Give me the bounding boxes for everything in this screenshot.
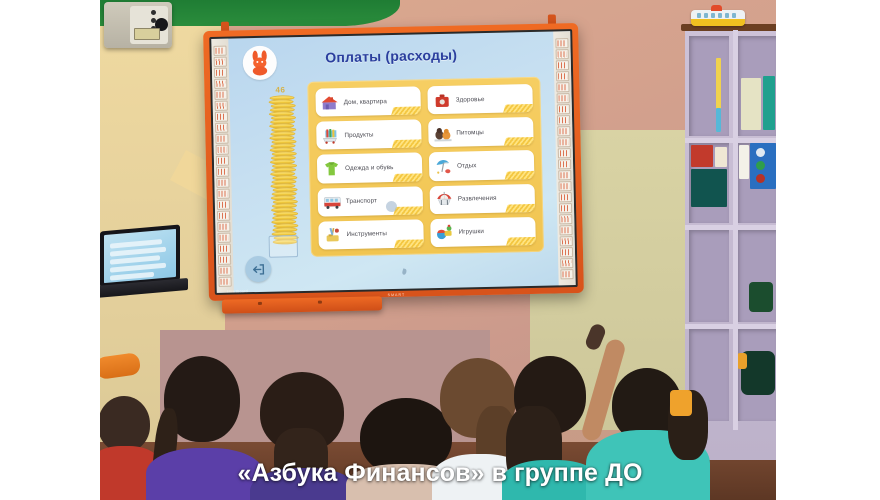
toolbar-button[interactable] bbox=[556, 82, 569, 92]
uv-lamp-indicator bbox=[151, 10, 156, 15]
toolbar-button[interactable] bbox=[558, 159, 571, 169]
toolbar-button[interactable] bbox=[556, 71, 569, 81]
bus-icon bbox=[323, 193, 342, 210]
expense-category-panel: Дом, квартира bbox=[307, 77, 544, 257]
screenshot-stage: Оплаты (расходы) 46 bbox=[0, 0, 880, 500]
uv-lamp-device bbox=[104, 2, 172, 48]
shelf-cube bbox=[737, 329, 776, 421]
menu-item-groceries[interactable]: Продукты bbox=[316, 120, 422, 150]
board-logo: smartboard bbox=[227, 289, 248, 293]
menu-item-label: Развлечения bbox=[458, 195, 497, 203]
price-tag bbox=[390, 106, 421, 116]
toolbar-button[interactable] bbox=[556, 49, 569, 59]
toys-icon bbox=[435, 224, 454, 241]
toolbar-button[interactable] bbox=[218, 243, 231, 253]
toolbar-button[interactable] bbox=[560, 236, 573, 246]
toolbar-button[interactable] bbox=[216, 166, 229, 176]
shelf-cube bbox=[737, 143, 776, 223]
lesson-application[interactable]: Оплаты (расходы) 46 bbox=[228, 31, 558, 292]
menu-item-clothing[interactable]: Одежда и обувь bbox=[317, 153, 423, 183]
menu-item-pets[interactable]: Питомцы bbox=[428, 117, 534, 147]
whiteboard-bezel: Оплаты (расходы) 46 bbox=[209, 29, 578, 295]
menu-item-label: Одежда и обувь bbox=[345, 164, 394, 172]
toolbar-button[interactable] bbox=[217, 232, 230, 242]
price-tag bbox=[505, 237, 536, 247]
toolbar-button[interactable] bbox=[557, 115, 570, 125]
laptop-computer bbox=[100, 228, 186, 300]
laptop-lid bbox=[100, 225, 180, 288]
shelf-game-box bbox=[715, 147, 727, 167]
shelf-game-box bbox=[691, 145, 713, 167]
toolbar-button[interactable] bbox=[557, 93, 570, 103]
whiteboard-frame: Оплаты (расходы) 46 bbox=[203, 23, 584, 301]
toolbar-button[interactable] bbox=[214, 78, 227, 88]
hair-clip bbox=[670, 390, 692, 416]
shelf-cube bbox=[689, 36, 729, 136]
toolbar-button[interactable] bbox=[558, 148, 571, 158]
menu-item-leisure[interactable]: Отдых bbox=[429, 150, 535, 180]
shelf-item bbox=[737, 353, 747, 369]
house-icon bbox=[321, 94, 340, 111]
price-tag bbox=[504, 170, 535, 180]
toolbar-button[interactable] bbox=[216, 177, 229, 187]
toolbar-button[interactable] bbox=[216, 144, 229, 154]
toolbar-button[interactable] bbox=[214, 89, 227, 99]
menu-item-entertainment[interactable]: Развлечения bbox=[430, 184, 536, 214]
toolbar-button[interactable] bbox=[557, 126, 570, 136]
toolbar-button[interactable] bbox=[559, 192, 572, 202]
shelf-item bbox=[739, 145, 749, 179]
menu-item-label: Продукты bbox=[344, 131, 373, 139]
toolbar-button[interactable] bbox=[560, 269, 573, 279]
menu-item-label: Транспорт bbox=[346, 198, 377, 206]
price-tag bbox=[392, 173, 423, 183]
back-arrow-icon[interactable] bbox=[245, 256, 272, 283]
shelf-cube bbox=[689, 143, 729, 223]
toy-bus bbox=[691, 10, 745, 26]
menu-item-label: Игрушки bbox=[458, 228, 484, 236]
price-tag bbox=[393, 239, 424, 249]
toolbar-button[interactable] bbox=[556, 60, 569, 70]
menu-item-tools[interactable]: Инструменты bbox=[318, 219, 424, 249]
menu-item-house[interactable]: Дом, квартира bbox=[315, 86, 421, 116]
toolbar-button[interactable] bbox=[555, 38, 568, 48]
menu-item-label: Дом, квартира bbox=[344, 98, 387, 106]
toolbar-button[interactable] bbox=[217, 188, 230, 198]
board-cursor bbox=[402, 268, 408, 275]
toolbar-button[interactable] bbox=[217, 199, 230, 209]
shelf-book bbox=[741, 78, 761, 130]
shelf-book bbox=[716, 108, 721, 132]
menu-item-label: Здоровье bbox=[456, 96, 485, 104]
interactive-whiteboard[interactable]: Оплаты (расходы) 46 bbox=[203, 23, 584, 301]
toolbar-button[interactable] bbox=[214, 67, 227, 77]
toy-bus-light bbox=[711, 5, 722, 11]
toolbar-button[interactable] bbox=[216, 155, 229, 165]
pets-icon bbox=[433, 124, 452, 141]
coin-balance: 46 bbox=[263, 85, 300, 244]
menu-item-transport[interactable]: Транспорт bbox=[318, 186, 424, 216]
board-brand-label: SMART bbox=[388, 293, 406, 297]
shelf-bag bbox=[749, 282, 773, 312]
price-tag bbox=[502, 104, 533, 114]
uv-lamp-display bbox=[134, 28, 160, 40]
shelf-cube bbox=[689, 230, 729, 322]
toolbar-button[interactable] bbox=[557, 137, 570, 147]
toolbar-button[interactable] bbox=[218, 254, 231, 264]
toolbar-button[interactable] bbox=[559, 225, 572, 235]
toolbar-button[interactable] bbox=[213, 45, 226, 55]
coin-drop-slot[interactable] bbox=[269, 235, 298, 258]
price-tag bbox=[505, 204, 536, 214]
toolbar-button[interactable] bbox=[217, 210, 230, 220]
shelf-cube bbox=[737, 36, 776, 136]
menu-item-label: Питомцы bbox=[456, 129, 484, 137]
toolbar-button[interactable] bbox=[558, 170, 571, 180]
shelf-cube bbox=[737, 230, 776, 322]
toolbar-button[interactable] bbox=[217, 221, 230, 231]
shopping-cart-icon bbox=[321, 127, 340, 144]
toolbar-button[interactable] bbox=[560, 247, 573, 257]
coin-count: 46 bbox=[263, 85, 297, 95]
tshirt-icon bbox=[322, 160, 341, 177]
menu-item-label: Инструменты bbox=[347, 231, 388, 239]
menu-item-health[interactable]: Здоровье bbox=[427, 84, 533, 114]
toolbar-button[interactable] bbox=[558, 181, 571, 191]
toolbar-button[interactable] bbox=[215, 111, 228, 121]
toolbar-button[interactable] bbox=[557, 104, 570, 114]
toolbar-button[interactable] bbox=[218, 265, 231, 275]
tools-icon bbox=[323, 227, 342, 244]
carousel-icon bbox=[435, 191, 454, 208]
beach-umbrella-icon bbox=[434, 158, 453, 175]
whiteboard-screen[interactable]: Оплаты (расходы) 46 bbox=[211, 31, 575, 293]
toolbar-button[interactable] bbox=[559, 214, 572, 224]
coin-stack bbox=[268, 95, 296, 244]
toolbar-button[interactable] bbox=[218, 276, 231, 286]
toolbar-button[interactable] bbox=[559, 203, 572, 213]
price-tag bbox=[391, 140, 422, 150]
menu-item-toys[interactable]: Игрушки bbox=[430, 217, 536, 247]
first-aid-kit-icon bbox=[432, 91, 451, 108]
menu-item-label: Отдых bbox=[457, 162, 477, 169]
toolbar-button[interactable] bbox=[215, 122, 228, 132]
toolbar-button[interactable] bbox=[215, 133, 228, 143]
page-title: Оплаты (расходы) bbox=[229, 44, 554, 67]
toolbar-button[interactable] bbox=[214, 56, 227, 66]
toolbar-button[interactable] bbox=[560, 258, 573, 268]
slide-caption: «Азбука Финансов» в группе ДО bbox=[0, 459, 880, 488]
classroom-photo: Оплаты (расходы) 46 bbox=[100, 0, 776, 500]
laptop-screen bbox=[104, 229, 176, 283]
price-tag bbox=[503, 137, 534, 147]
shelf-book bbox=[763, 76, 775, 130]
shelf-game-box bbox=[691, 169, 727, 207]
toolbar-button[interactable] bbox=[215, 100, 228, 110]
price-tag bbox=[393, 206, 424, 216]
